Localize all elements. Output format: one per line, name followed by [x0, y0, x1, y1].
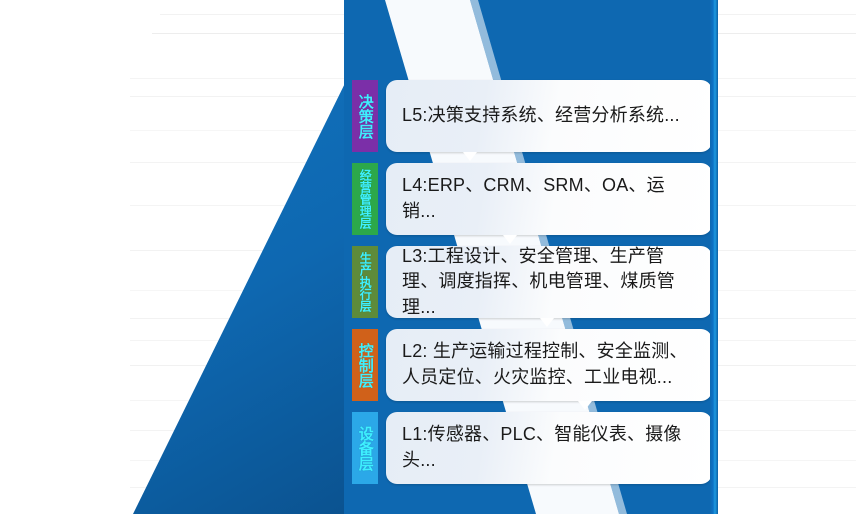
level-tag-l4: 经营管理层 — [352, 163, 378, 235]
connector-arrow-icon — [463, 152, 477, 161]
level-card-l2[interactable]: L2: 生产运输过程控制、安全监测、人员定位、火灾监控、工业电视... — [386, 329, 712, 401]
level-row-l4[interactable]: 经营管理层 L4:ERP、CRM、SRM、OA、运销... — [352, 163, 712, 235]
level-card-l4[interactable]: L4:ERP、CRM、SRM、OA、运销... — [386, 163, 712, 235]
level-card-l3[interactable]: L3:工程设计、安全管理、生产管理、调度指挥、机电管理、煤质管理... — [386, 246, 712, 318]
level-card-text-l4: L4:ERP、CRM、SRM、OA、运销... — [402, 173, 696, 224]
connector-arrow-icon — [540, 318, 554, 327]
level-row-l5[interactable]: 决策层 L5:决策支持系统、经营分析系统... — [352, 80, 712, 152]
level-row-l2[interactable]: 控制层 L2: 生产运输过程控制、安全监测、人员定位、火灾监控、工业电视... — [352, 329, 712, 401]
connector-arrow-icon — [578, 401, 592, 410]
level-tag-l1: 设备层 — [352, 412, 378, 484]
level-tag-l2: 控制层 — [352, 329, 378, 401]
level-card-l5[interactable]: L5:决策支持系统、经营分析系统... — [386, 80, 712, 152]
connector-arrow-icon — [503, 235, 517, 244]
level-card-text-l1: L1:传感器、PLC、智能仪表、摄像头... — [402, 422, 696, 473]
panel-right-edge — [710, 0, 718, 514]
level-card-l1[interactable]: L1:传感器、PLC、智能仪表、摄像头... — [386, 412, 712, 484]
level-row-l3[interactable]: 生产执行层 L3:工程设计、安全管理、生产管理、调度指挥、机电管理、煤质管理..… — [352, 246, 712, 318]
level-rows: 决策层 L5:决策支持系统、经营分析系统... 经营管理层 L4:ERP、CRM… — [0, 0, 856, 514]
level-card-text-l3: L3:工程设计、安全管理、生产管理、调度指挥、机电管理、煤质管理... — [402, 244, 696, 321]
level-card-text-l2: L2: 生产运输过程控制、安全监测、人员定位、火灾监控、工业电视... — [402, 339, 696, 390]
diagram-canvas: 决策层 L5:决策支持系统、经营分析系统... 经营管理层 L4:ERP、CRM… — [0, 0, 856, 514]
level-tag-l5: 决策层 — [352, 80, 378, 152]
level-card-text-l5: L5:决策支持系统、经营分析系统... — [402, 103, 680, 129]
level-row-l1[interactable]: 设备层 L1:传感器、PLC、智能仪表、摄像头... — [352, 412, 712, 484]
level-tag-l3: 生产执行层 — [352, 246, 378, 318]
